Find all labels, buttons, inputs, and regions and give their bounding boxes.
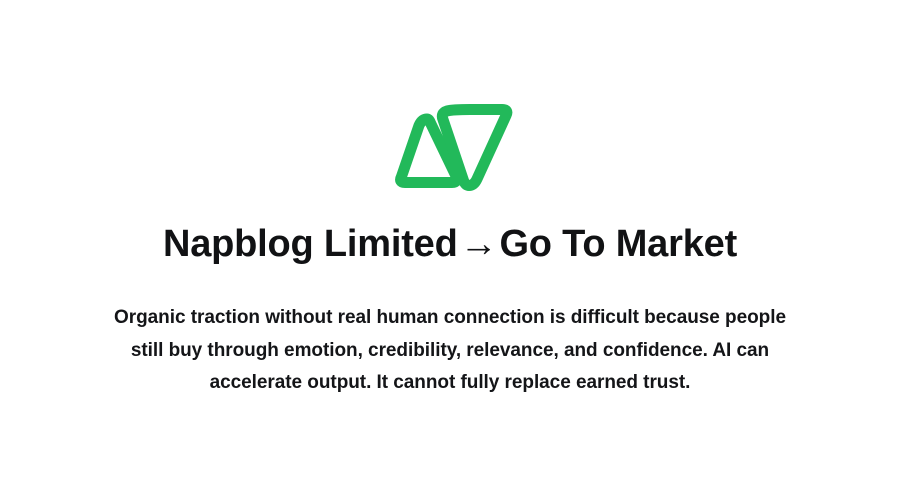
title-slide: Napblog Limited→Go To Market Organic tra… <box>0 0 900 500</box>
body-line-2: still buy through emotion, credibility, … <box>80 335 820 368</box>
body-copy: Organic traction without real human conn… <box>0 302 900 400</box>
title-container: Napblog Limited→Go To Market <box>0 222 900 266</box>
napblog-crossing-parallelogram-logo-icon <box>384 96 516 196</box>
body-line-1: Organic traction without real human conn… <box>80 302 820 335</box>
page-title: Napblog Limited→Go To Market <box>40 222 860 266</box>
page-title-subject: Napblog Limited <box>163 223 458 265</box>
body-line-3: accelerate output. It cannot fully repla… <box>80 367 820 400</box>
logo-container <box>0 96 900 196</box>
page-title-object: Go To Market <box>499 223 737 265</box>
right-arrow-icon: → <box>458 223 500 265</box>
